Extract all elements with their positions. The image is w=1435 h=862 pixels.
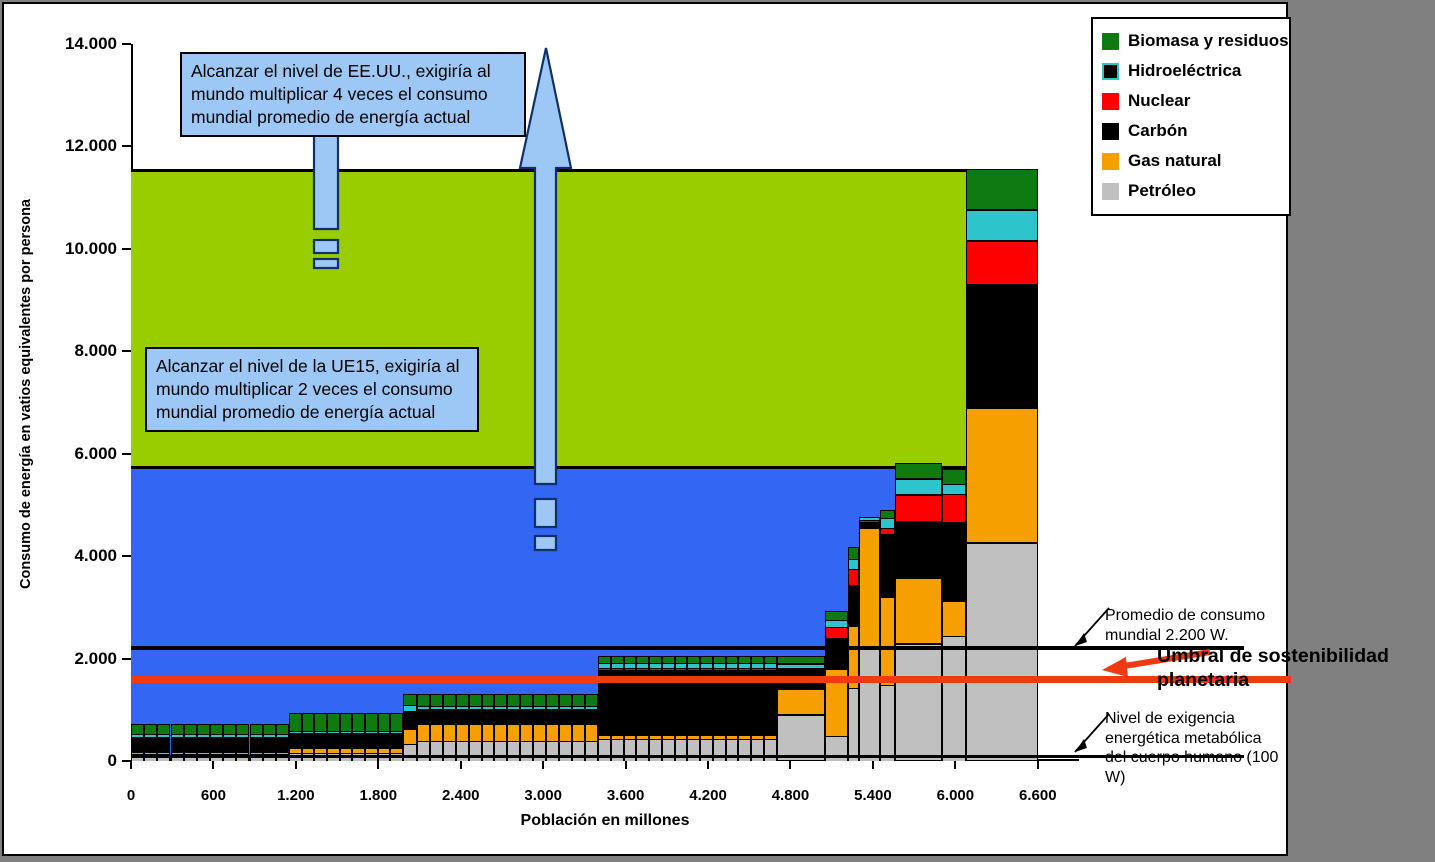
legend-swatch-icon	[1102, 183, 1119, 200]
bar-segment	[378, 733, 391, 734]
bar-segment	[494, 706, 507, 709]
legend-swatch-icon	[1102, 153, 1119, 170]
y-tick-mark	[122, 555, 131, 557]
x-tick-mark	[295, 761, 297, 769]
bar-segment	[365, 713, 378, 730]
bar-stack	[700, 656, 713, 761]
bar-segment	[675, 668, 688, 670]
bar-segment	[649, 656, 662, 663]
bar-segment	[848, 688, 859, 761]
x-tick-mark	[130, 761, 132, 769]
legend-item: Petróleo	[1102, 176, 1281, 206]
bar-segment	[276, 724, 289, 734]
bar-segment	[250, 737, 263, 752]
bar-segment	[365, 748, 378, 754]
bar-stack	[417, 694, 430, 761]
x-tick-mark	[625, 761, 627, 769]
bar-segment	[713, 735, 726, 739]
x-axis-title: Población en millones	[521, 812, 690, 830]
bar-segment	[895, 495, 942, 522]
bar-segment	[585, 694, 598, 705]
bar-segment	[469, 694, 482, 705]
legend-swatch-icon	[1102, 123, 1119, 140]
bar-segment	[171, 737, 184, 752]
bar-segment	[417, 709, 430, 710]
bar-segment	[223, 724, 236, 734]
bar-segment	[751, 735, 764, 739]
x-tick-label: 6.000	[937, 787, 975, 804]
bar-segment	[942, 469, 967, 484]
bar-stack	[751, 656, 764, 761]
bar-segment	[494, 709, 507, 710]
bar-segment	[197, 734, 210, 736]
bar-segment	[687, 663, 700, 668]
bar-segment	[482, 694, 495, 705]
bar-segment	[417, 710, 430, 724]
legend: Biomasa y residuosHidroeléctricaNuclearC…	[1091, 17, 1291, 216]
annotation-umbral: Umbral de sostenibilidad planetaria	[1157, 644, 1435, 693]
bar-segment	[250, 724, 263, 734]
bar-segment	[848, 569, 859, 585]
bar-segment	[859, 648, 880, 761]
bar-segment	[443, 706, 456, 709]
x-tick-label: 1.200	[277, 787, 315, 804]
bar-stack	[598, 656, 611, 761]
x-tick-label: 600	[201, 787, 226, 804]
bar-segment	[895, 644, 942, 761]
y-tick-label: 8.000	[74, 341, 117, 361]
bar-segment	[494, 724, 507, 741]
bar-segment	[859, 517, 880, 520]
bar-segment	[482, 709, 495, 710]
bar-segment	[157, 737, 170, 752]
legend-item: Nuclear	[1102, 86, 1281, 116]
y-tick-label: 4.000	[74, 546, 117, 566]
bar-segment	[880, 685, 895, 761]
bar-segment	[738, 656, 751, 663]
bar-segment	[430, 710, 443, 724]
callout-ue15: Alcanzar el nivel de la UE15, exigiría a…	[145, 347, 479, 432]
bar-segment	[250, 734, 263, 736]
bar-segment	[713, 668, 726, 670]
bar-stack	[611, 656, 624, 761]
bar-segment	[430, 694, 443, 705]
bar-stack	[390, 713, 403, 761]
bar-segment	[777, 656, 825, 664]
legend-item: Gas natural	[1102, 146, 1281, 176]
y-tick-label: 12.000	[65, 136, 117, 156]
bar-segment	[482, 724, 495, 741]
x-tick-label: 6.600	[1019, 787, 1057, 804]
bar-segment	[365, 733, 378, 734]
bar-segment	[443, 709, 456, 710]
bar-segment	[966, 210, 1037, 241]
y-tick-mark	[122, 453, 131, 455]
bar-segment	[184, 737, 197, 752]
bar-segment	[417, 694, 430, 705]
bar-segment	[430, 706, 443, 709]
bar-segment	[197, 737, 210, 752]
bar-segment	[171, 734, 184, 736]
x-tick-label: 3.000	[524, 787, 562, 804]
bar-segment	[859, 520, 880, 522]
bar-segment	[210, 734, 223, 736]
bar-segment	[649, 663, 662, 668]
bar-segment	[403, 705, 417, 710]
bar-segment	[825, 627, 848, 638]
bar-segment	[236, 737, 249, 752]
bar-segment	[378, 713, 391, 730]
bar-segment	[598, 656, 611, 663]
bar-segment	[443, 741, 456, 761]
bar-segment	[880, 534, 895, 597]
bar-segment	[469, 706, 482, 709]
bar-segment	[131, 737, 144, 752]
x-tick-mark	[872, 761, 874, 769]
bar-segment	[636, 656, 649, 663]
bar-segment	[636, 735, 649, 739]
bar-segment	[611, 668, 624, 670]
bar-segment	[675, 656, 688, 663]
bar-segment	[390, 734, 403, 747]
bar-segment	[585, 741, 598, 761]
bar-stack	[456, 694, 469, 761]
bar-stack	[624, 656, 637, 761]
bar-segment	[942, 494, 967, 523]
bar-segment	[895, 578, 942, 645]
bar-segment	[456, 741, 469, 761]
bar-segment	[777, 689, 825, 715]
x-tick-label: 1.800	[360, 787, 398, 804]
bar-segment	[662, 663, 675, 668]
bar-segment	[236, 734, 249, 736]
bar-segment	[456, 724, 469, 741]
legend-item-label: Nuclear	[1128, 91, 1190, 111]
bar-stack	[662, 656, 675, 761]
bar-segment	[263, 734, 276, 736]
bar-segment	[456, 709, 469, 710]
bar-segment	[966, 169, 1037, 210]
bar-segment	[895, 479, 942, 495]
bar-segment	[469, 709, 482, 710]
bar-stack	[636, 656, 649, 761]
x-tick-mark	[707, 761, 709, 769]
bar-segment	[417, 724, 430, 741]
bar-segment	[649, 735, 662, 739]
x-tick-mark	[542, 761, 544, 769]
bar-segment	[236, 724, 249, 734]
y-tick-mark	[122, 658, 131, 660]
bar-stack	[430, 694, 443, 761]
legend-item: Carbón	[1102, 116, 1281, 146]
callout-eeuu: Alcanzar el nivel de EE.UU., exigiría al…	[180, 52, 526, 137]
bar-segment	[403, 694, 417, 705]
x-tick-label: 0	[127, 787, 135, 804]
bar-segment	[764, 656, 777, 663]
x-tick-label: 2.400	[442, 787, 480, 804]
bar-segment	[624, 656, 637, 663]
bar-segment	[365, 734, 378, 747]
bar-segment	[157, 734, 170, 736]
bar-segment	[942, 484, 967, 494]
bar-segment	[738, 668, 751, 670]
y-tick-mark	[122, 350, 131, 352]
bar-segment	[700, 663, 713, 668]
y-tick-mark	[122, 145, 131, 147]
bar-segment	[611, 735, 624, 739]
bar-segment	[662, 735, 675, 739]
bar-segment	[585, 710, 598, 724]
bar-segment	[390, 748, 403, 754]
bar-segment	[365, 731, 378, 734]
bar-segment	[675, 663, 688, 668]
annotation-promedio-mundial: Promedio de consumo mundial 2.200 W.	[1105, 606, 1290, 645]
bar-segment	[403, 729, 417, 744]
bar-segment	[144, 724, 157, 734]
bar-segment	[171, 724, 184, 734]
bar-segment	[764, 668, 777, 670]
bar-segment	[482, 710, 495, 724]
bar-segment	[662, 656, 675, 663]
bar-stack	[880, 510, 895, 761]
bar-segment	[649, 668, 662, 670]
bar-segment	[390, 731, 403, 734]
bar-segment	[624, 735, 637, 739]
bar-stack	[494, 694, 507, 761]
bar-segment	[942, 522, 967, 600]
bar-segment	[859, 522, 880, 528]
bar-stack	[848, 547, 859, 761]
bar-segment	[223, 737, 236, 752]
bar-segment	[859, 528, 880, 648]
bar-segment	[390, 733, 403, 734]
leader-line-metabolico	[1067, 710, 1111, 760]
bar-segment	[738, 663, 751, 668]
bar-segment	[895, 522, 942, 577]
x-tick-mark	[377, 761, 379, 769]
bar-segment	[210, 724, 223, 734]
bar-segment	[263, 737, 276, 752]
bar-segment	[276, 737, 289, 752]
bar-segment	[675, 735, 688, 739]
bar-segment	[131, 724, 144, 734]
bar-stack	[687, 656, 700, 761]
legend-item-label: Petróleo	[1128, 181, 1196, 201]
bar-segment	[848, 585, 859, 626]
bar-segment	[184, 734, 197, 736]
legend-swatch-icon	[1102, 33, 1119, 50]
bar-segment	[417, 741, 430, 761]
bar-segment	[726, 668, 739, 670]
bar-segment	[378, 731, 391, 734]
bar-stack	[713, 656, 726, 761]
bar-segment	[197, 724, 210, 734]
bar-segment	[223, 734, 236, 736]
bar-segment	[726, 735, 739, 739]
bar-segment	[430, 724, 443, 741]
bar-stack	[777, 656, 825, 761]
legend-item-label: Gas natural	[1128, 151, 1222, 171]
x-tick-mark	[212, 761, 214, 769]
bar-segment	[942, 636, 967, 761]
bar-segment	[764, 735, 777, 739]
bar-segment	[378, 734, 391, 747]
bar-segment	[825, 638, 848, 669]
bar-segment	[494, 741, 507, 761]
figure-stage: Consumo de energía en vatios equivalente…	[0, 0, 1435, 862]
bar-stack	[726, 656, 739, 761]
legend-item: Biomasa y residuos	[1102, 26, 1281, 56]
bar-stack	[942, 469, 967, 761]
bar-segment	[469, 741, 482, 761]
bar-segment	[598, 668, 611, 670]
bar-segment	[403, 711, 417, 712]
bar-segment	[184, 724, 197, 734]
bar-segment	[469, 710, 482, 724]
legend-item: Hidroeléctrica	[1102, 56, 1281, 86]
bar-segment	[598, 735, 611, 739]
bar-segment	[966, 543, 1037, 761]
bar-segment	[430, 709, 443, 710]
bar-segment	[210, 737, 223, 752]
arrow-eeuu	[509, 44, 583, 761]
bar-segment	[443, 694, 456, 705]
bar-segment	[482, 706, 495, 709]
legend-swatch-icon	[1102, 93, 1119, 110]
bar-segment	[624, 668, 637, 670]
bar-segment	[482, 741, 495, 761]
bar-segment	[598, 663, 611, 668]
bar-segment	[880, 510, 895, 518]
bar-segment	[966, 408, 1037, 544]
bar-segment	[662, 668, 675, 670]
y-tick-label: 0	[108, 751, 117, 771]
bar-segment	[848, 559, 859, 569]
bar-segment	[700, 656, 713, 663]
bar-stack	[764, 656, 777, 761]
bar-segment	[403, 744, 417, 761]
bar-segment	[966, 241, 1037, 285]
bar-segment	[390, 713, 403, 730]
bar-segment	[469, 724, 482, 741]
bar-segment	[726, 656, 739, 663]
bar-segment	[751, 656, 764, 663]
bar-segment	[456, 710, 469, 724]
bar-segment	[713, 656, 726, 663]
chart-panel: Consumo de energía en vatios equivalente…	[2, 2, 1288, 856]
bar-segment	[456, 706, 469, 709]
y-axis-title: Consumo de energía en vatios equivalente…	[18, 199, 34, 589]
bar-segment	[378, 748, 391, 754]
bar-segment	[880, 528, 895, 534]
bar-segment	[443, 724, 456, 741]
bar-stack	[825, 611, 848, 761]
bar-segment	[276, 734, 289, 736]
annotation-metabolico: Nivel de exigencia energética metabólica…	[1105, 709, 1295, 787]
bar-segment	[687, 735, 700, 739]
x-tick-mark	[1037, 761, 1039, 769]
bar-segment	[585, 706, 598, 709]
bar-segment	[144, 734, 157, 736]
bar-segment	[585, 724, 598, 741]
bar-segment	[687, 656, 700, 663]
bar-stack	[966, 169, 1037, 761]
bar-segment	[443, 710, 456, 724]
bar-segment	[726, 663, 739, 668]
bar-stack	[859, 517, 880, 761]
bar-segment	[417, 706, 430, 709]
bar-segment	[636, 663, 649, 668]
legend-item-label: Carbón	[1128, 121, 1188, 141]
bar-stack	[675, 656, 688, 761]
legend-item-label: Hidroeléctrica	[1128, 61, 1241, 81]
x-tick-mark	[789, 761, 791, 769]
y-tick-label: 2.000	[74, 649, 117, 669]
bar-segment	[144, 737, 157, 752]
bar-segment	[494, 710, 507, 724]
bar-segment	[611, 656, 624, 663]
bar-stack	[738, 656, 751, 761]
bar-segment	[403, 712, 417, 729]
y-tick-mark	[122, 43, 131, 45]
bar-segment	[456, 694, 469, 705]
bar-segment	[942, 601, 967, 636]
x-tick-mark	[954, 761, 956, 769]
bar-segment	[131, 734, 144, 736]
bar-stack	[649, 656, 662, 761]
bar-stack	[443, 694, 456, 761]
y-tick-mark	[122, 248, 131, 250]
bar-segment	[880, 518, 895, 528]
bar-stack	[585, 694, 598, 761]
bar-segment	[430, 741, 443, 761]
bar-segment	[585, 709, 598, 710]
bar-segment	[777, 664, 825, 669]
bar-stack	[895, 463, 942, 761]
y-tick-label: 10.000	[65, 239, 117, 259]
bar-segment	[966, 285, 1037, 408]
bar-segment	[624, 663, 637, 668]
bar-segment	[611, 663, 624, 668]
y-tick-label: 14.000	[65, 34, 117, 54]
bar-segment	[751, 668, 764, 670]
x-tick-label: 3.600	[607, 787, 645, 804]
bar-segment	[751, 663, 764, 668]
bar-segment	[825, 611, 848, 620]
bar-segment	[713, 663, 726, 668]
bar-stack	[469, 694, 482, 761]
bar-stack	[482, 694, 495, 761]
legend-item-label: Biomasa y residuos	[1128, 31, 1289, 51]
x-tick-mark	[460, 761, 462, 769]
bar-segment	[494, 694, 507, 705]
bar-segment	[738, 735, 751, 739]
bar-segment	[687, 668, 700, 670]
legend-swatch-icon	[1102, 63, 1119, 80]
y-tick-label: 6.000	[74, 444, 117, 464]
bar-segment	[157, 724, 170, 734]
x-tick-label: 5.400	[854, 787, 892, 804]
bar-segment	[263, 724, 276, 734]
x-tick-label: 4.800	[772, 787, 810, 804]
bar-segment	[848, 547, 859, 558]
bar-stack	[403, 694, 417, 761]
bar-segment	[777, 669, 825, 671]
bar-segment	[825, 620, 848, 627]
x-tick-label: 4.200	[689, 787, 727, 804]
bar-stack	[365, 713, 378, 761]
bar-segment	[764, 663, 777, 668]
